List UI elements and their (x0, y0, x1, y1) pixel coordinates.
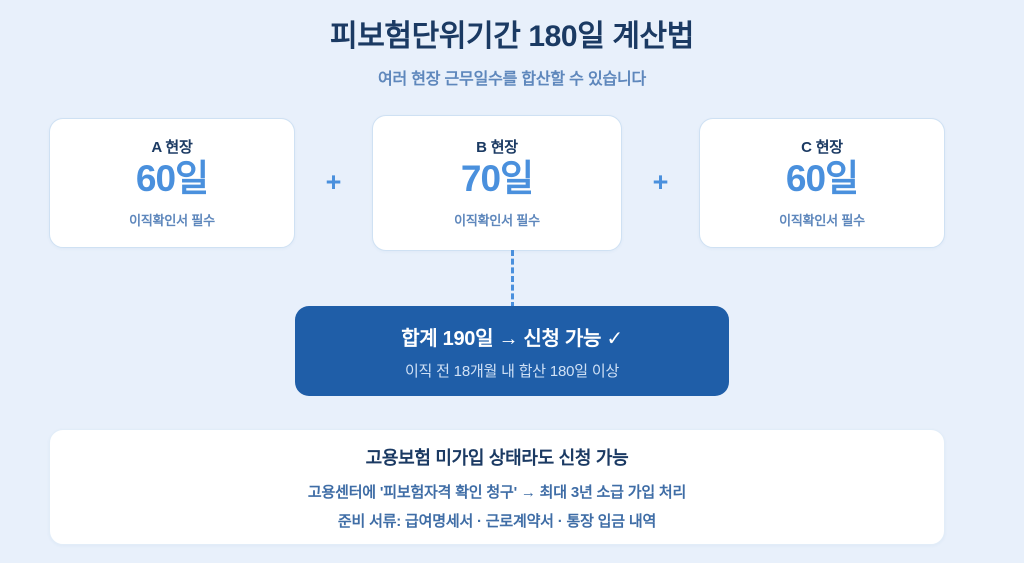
note-line-1: 고용센터에 '피보험자격 확인 청구' → 최대 3년 소급 가입 처리 (308, 481, 686, 502)
site-card-c: C 현장 60일 이직확인서 필수 (699, 118, 945, 248)
site-cards-row: A 현장 60일 이직확인서 필수 + B 현장 70일 이직확인서 필수 + … (49, 115, 945, 250)
infographic-page: 피보험단위기간 180일 계산법 여러 현장 근무일수를 합산할 수 있습니다 … (0, 0, 1024, 563)
summary-sub-text: 이직 전 18개월 내 합산 180일 이상 (405, 360, 619, 381)
plus-separator-1: + (314, 169, 354, 196)
page-title: 피보험단위기간 180일 계산법 (0, 18, 1024, 56)
summary-banner: 합계 190일 → 신청 가능 ✓ 이직 전 18개월 내 합산 180일 이상 (295, 306, 729, 396)
site-card-b-value: 70일 (461, 158, 533, 201)
page-subtitle: 여러 현장 근무일수를 합산할 수 있습니다 (0, 65, 1024, 89)
site-card-a-value: 60일 (136, 158, 208, 201)
site-card-c-value: 60일 (786, 158, 858, 201)
site-card-c-note: 이직확인서 필수 (779, 210, 865, 229)
site-card-a: A 현장 60일 이직확인서 필수 (49, 118, 295, 248)
site-card-a-label: A 현장 (151, 136, 192, 157)
site-card-b: B 현장 70일 이직확인서 필수 (372, 115, 622, 251)
site-card-a-note: 이직확인서 필수 (129, 210, 215, 229)
summary-main-text: 합계 190일 → 신청 가능 ✓ (401, 322, 623, 351)
site-card-c-label: C 현장 (801, 136, 843, 157)
dashed-connector-line (511, 250, 514, 308)
site-card-b-label: B 현장 (476, 136, 518, 157)
note-title: 고용보험 미가입 상태라도 신청 가능 (366, 444, 629, 470)
note-line-2: 준비 서류: 급여명세서 · 근로계약서 · 통장 입금 내역 (338, 510, 656, 531)
site-card-b-note: 이직확인서 필수 (454, 210, 540, 229)
plus-separator-2: + (641, 169, 681, 196)
header: 피보험단위기간 180일 계산법 여러 현장 근무일수를 합산할 수 있습니다 (0, 18, 1024, 89)
bottom-note-card: 고용보험 미가입 상태라도 신청 가능 고용센터에 '피보험자격 확인 청구' … (49, 429, 945, 545)
